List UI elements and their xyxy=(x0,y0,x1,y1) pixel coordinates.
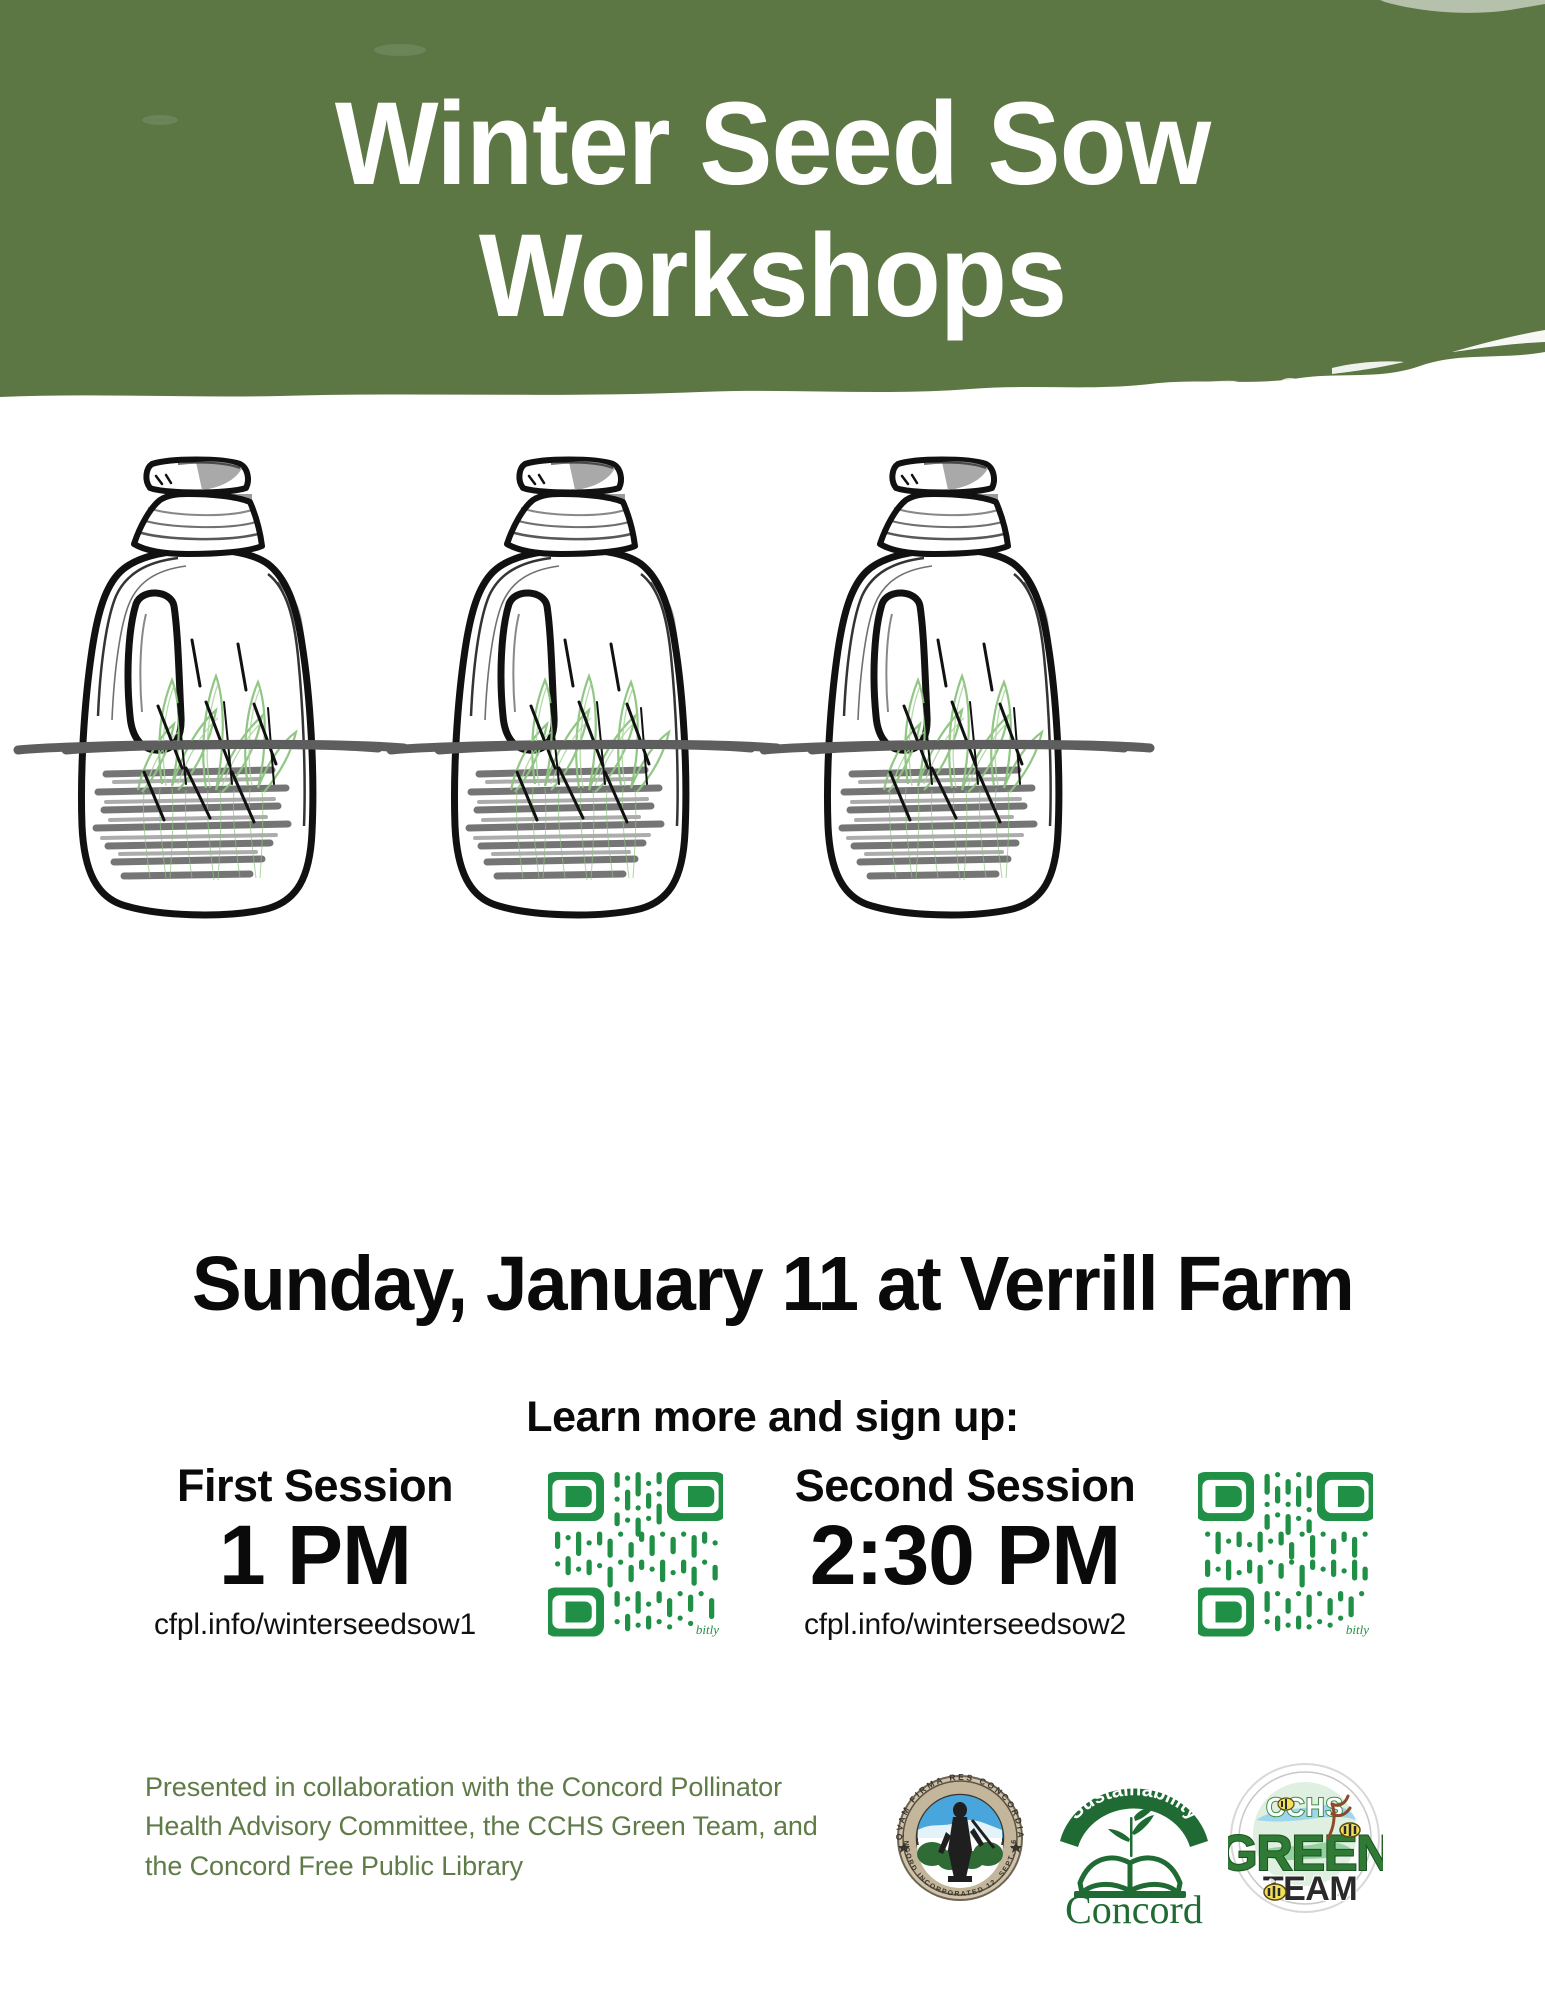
milk-jug-3 xyxy=(764,460,1124,915)
session-first-url[interactable]: cfpl.info/winterseedsow1 xyxy=(100,1608,530,1642)
qr-brand-label-first: bitly xyxy=(696,1622,719,1638)
qr-brand-label-second: bitly xyxy=(1346,1622,1369,1638)
session-first-time: 1 PM xyxy=(100,1511,530,1600)
credit-line-1: Presented in collaboration with the Conc… xyxy=(145,1768,845,1807)
cchs-green-team-logo: CCHS GREEN TEAM xyxy=(1228,1748,1383,1933)
signup-heading: Learn more and sign up: xyxy=(0,1393,1545,1442)
qr-code-second-session-svg[interactable] xyxy=(1198,1465,1373,1640)
cfpl-wordmark: Concord xyxy=(1065,1887,1203,1930)
session-block-first: First Session 1 PM cfpl.info/winterseeds… xyxy=(100,1462,750,1642)
qr-code-first-session-svg[interactable] xyxy=(548,1465,723,1640)
partner-logo-group: QVAM FIRMA RES CONCORDIA CONCORD INCORPO… xyxy=(880,1740,1390,1940)
event-date-line: Sunday, January 11 at Verrill Farm xyxy=(23,1240,1522,1329)
credit-line-3: the Concord Free Public Library xyxy=(145,1847,845,1886)
session-second-url[interactable]: cfpl.info/winterseedsow2 xyxy=(750,1608,1180,1642)
page-title-line-1: Winter Seed Sow xyxy=(335,78,1210,210)
header-banner: Winter Seed Sow Workshops xyxy=(0,0,1545,420)
credit-line-2: Health Advisory Committee, the CCHS Gree… xyxy=(145,1807,845,1846)
milk-jug-illustration-svg xyxy=(0,448,1545,948)
town-of-concord-seal-logo: QVAM FIRMA RES CONCORDIA CONCORD INCORPO… xyxy=(880,1750,1040,1930)
session-second-title: Second Session xyxy=(750,1462,1180,1509)
page-title: Winter Seed Sow Workshops xyxy=(54,78,1491,342)
milk-jug-1 xyxy=(18,460,378,915)
cfpl-logo-svg: Sustainability Concord FREE PUBLIC LIBRA… xyxy=(1044,1745,1224,1930)
session-second-text: Second Session 2:30 PM cfpl.info/winters… xyxy=(750,1462,1180,1642)
session-block-second: Second Session 2:30 PM cfpl.info/winters… xyxy=(750,1462,1450,1642)
qr-code-first-session[interactable]: bitly xyxy=(548,1465,723,1640)
concord-free-public-library-logo: Sustainability Concord FREE PUBLIC LIBRA… xyxy=(1044,1745,1224,1935)
session-second-time: 2:30 PM xyxy=(750,1511,1180,1600)
page-title-line-2: Workshops xyxy=(54,210,1491,342)
qr-code-second-session[interactable]: bitly xyxy=(1198,1465,1373,1640)
session-list: First Session 1 PM cfpl.info/winterseeds… xyxy=(100,1462,1450,1692)
milk-jug-illustration-group xyxy=(0,448,1545,948)
town-of-concord-seal-svg: QVAM FIRMA RES CONCORDIA CONCORD INCORPO… xyxy=(880,1750,1040,1925)
milk-jug-2 xyxy=(391,460,751,915)
bee-icon-right xyxy=(1340,1823,1360,1837)
cfpl-subtext: FREE PUBLIC LIBRARY xyxy=(1051,1928,1218,1930)
session-first-title: First Session xyxy=(100,1462,530,1509)
collaboration-credit: Presented in collaboration with the Conc… xyxy=(145,1768,845,1886)
green-team-logo-svg: CCHS GREEN TEAM xyxy=(1228,1748,1383,1928)
session-first-text: First Session 1 PM cfpl.info/winterseeds… xyxy=(100,1462,530,1642)
footer: Presented in collaboration with the Conc… xyxy=(0,1740,1545,1970)
bee-icon-top xyxy=(1278,1798,1294,1810)
